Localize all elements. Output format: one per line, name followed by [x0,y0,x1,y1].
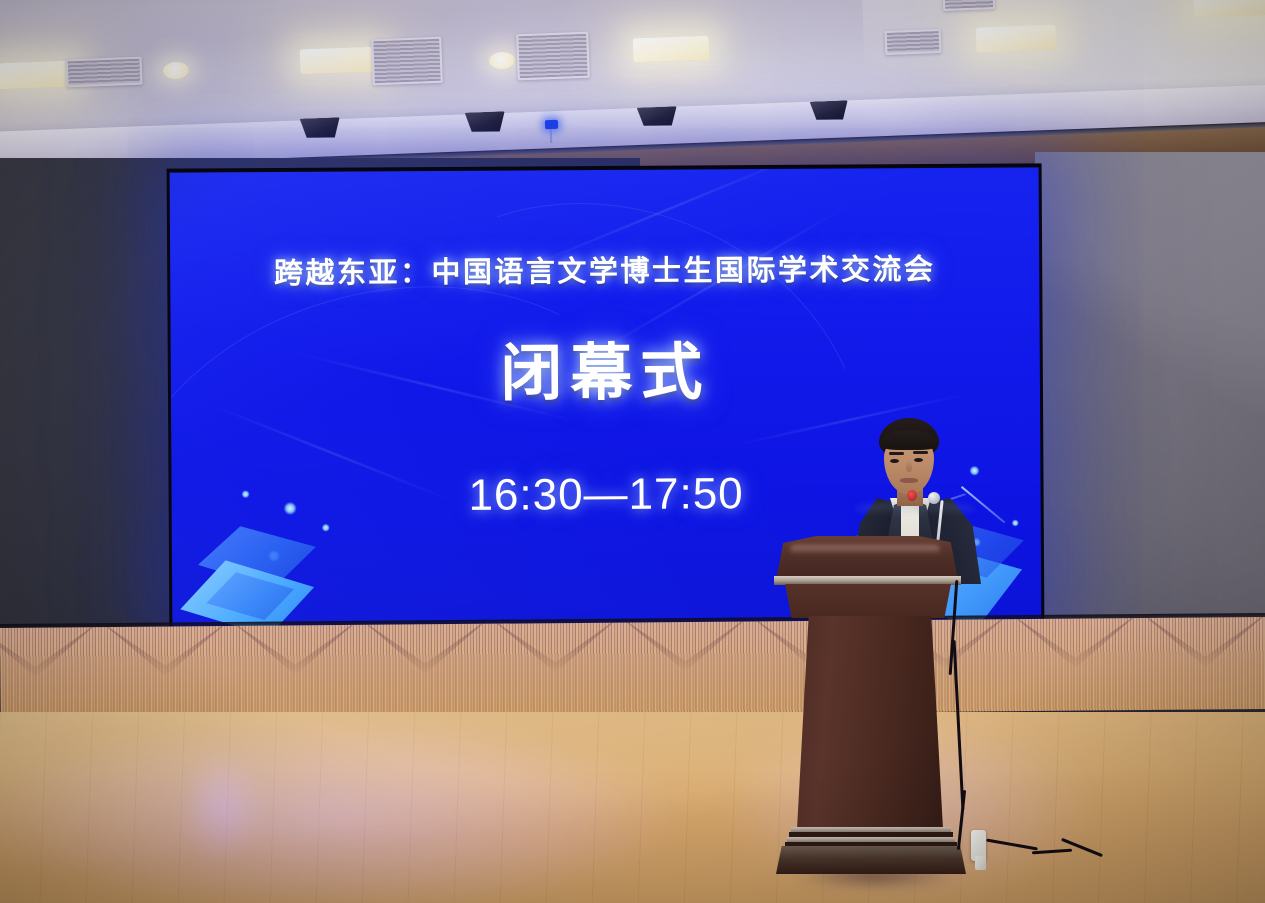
nose [906,460,912,472]
back-wall-right-glow [1035,152,1265,412]
ceiling-panel-light [1194,0,1265,17]
mouth [900,478,918,483]
podium-base [776,846,966,874]
ceiling-air-vent [885,29,942,55]
podium-column [797,616,943,829]
ceiling-panel-light [300,47,377,75]
power-plug [975,856,986,870]
auditorium-scene: 跨越东亚：中国语言文学博士生国际学术交流会 闭幕式 16:30—17:50 [0,0,1265,903]
eye-right [914,458,923,462]
eyebrow-left [889,452,904,455]
floor-light-spill [0,700,780,903]
podium-top-highlight [790,545,940,555]
ceiling-air-vent [516,32,590,81]
session-heading: 闭幕式 [171,319,1041,414]
ceiling-panel-light [0,61,72,90]
ceiling-air-vent [371,37,443,86]
screen-glow-dot [1012,519,1019,526]
podium-top [776,536,958,580]
ceiling-air-vent [66,57,143,88]
screen-glow-dot [322,524,330,532]
eyebrow-right [913,451,928,454]
ceiling-air-vent [943,0,995,11]
eye-left [890,459,899,463]
microphone-head [928,492,940,504]
ceiling-blue-device [545,120,558,129]
hair-fringe [880,430,938,450]
conference-title: 跨越东亚：中国语言文学博士生国际学术交流会 [170,245,1039,292]
lapel-badge [907,490,917,501]
ceiling-panel-light [976,25,1057,53]
podium-lip [774,576,961,585]
ceiling-panel-light [633,36,710,63]
podium-midsection [785,584,951,618]
floor-silhouette-reflection [165,740,280,890]
